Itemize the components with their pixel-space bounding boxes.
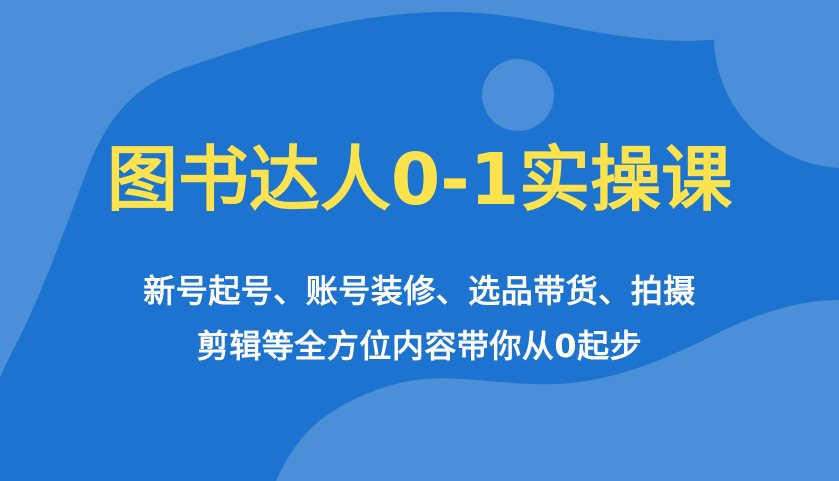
banner-content: 图书达人0-1实操课 新号起号、账号装修、选品带货、拍摄 剪辑等全方位内容带你从… — [0, 0, 839, 481]
banner-subtitle: 新号起号、账号装修、选品带货、拍摄 剪辑等全方位内容带你从0起步 — [143, 264, 696, 374]
page-title: 图书达人0-1实操课 — [107, 138, 732, 222]
subtitle-line-1: 新号起号、账号装修、选品带货、拍摄 — [143, 264, 696, 319]
course-promo-banner: 图书达人0-1实操课 新号起号、账号装修、选品带货、拍摄 剪辑等全方位内容带你从… — [0, 0, 839, 481]
subtitle-line-2: 剪辑等全方位内容带你从0起步 — [143, 319, 696, 374]
